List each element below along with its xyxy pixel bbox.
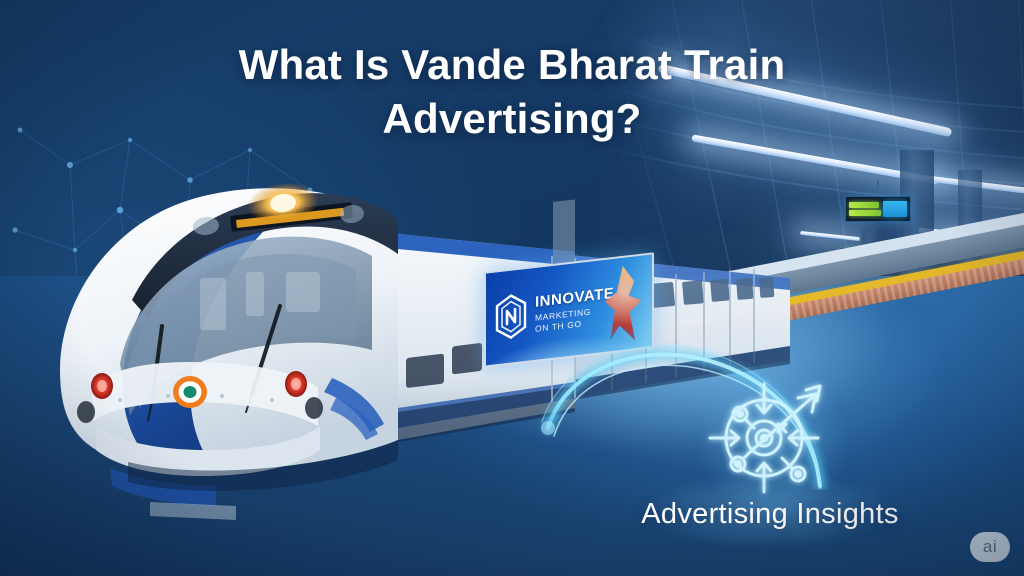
ai-watermark-badge: ai (970, 532, 1010, 562)
station-display-board (845, 196, 911, 222)
page-title: What Is Vande Bharat Train Advertising? (0, 38, 1024, 146)
sign-text-line-1 (849, 202, 879, 208)
tricolour-emblem (173, 376, 207, 408)
marketing-target-arrow-icon (700, 372, 840, 502)
title-line-2: Advertising? (0, 92, 1024, 146)
poster-canvas: INNOVATE MARKETING ON TH GO (0, 0, 1024, 576)
train-lead-car (60, 179, 534, 520)
sign-highlight-block (883, 201, 907, 217)
title-line-1: What Is Vande Bharat Train (0, 38, 1024, 92)
sign-text-line-2 (849, 210, 881, 216)
sign-text-rows (849, 202, 881, 216)
sign-board-hanger (877, 180, 879, 197)
caption-advertising-insights: Advertising Insights (560, 498, 980, 531)
